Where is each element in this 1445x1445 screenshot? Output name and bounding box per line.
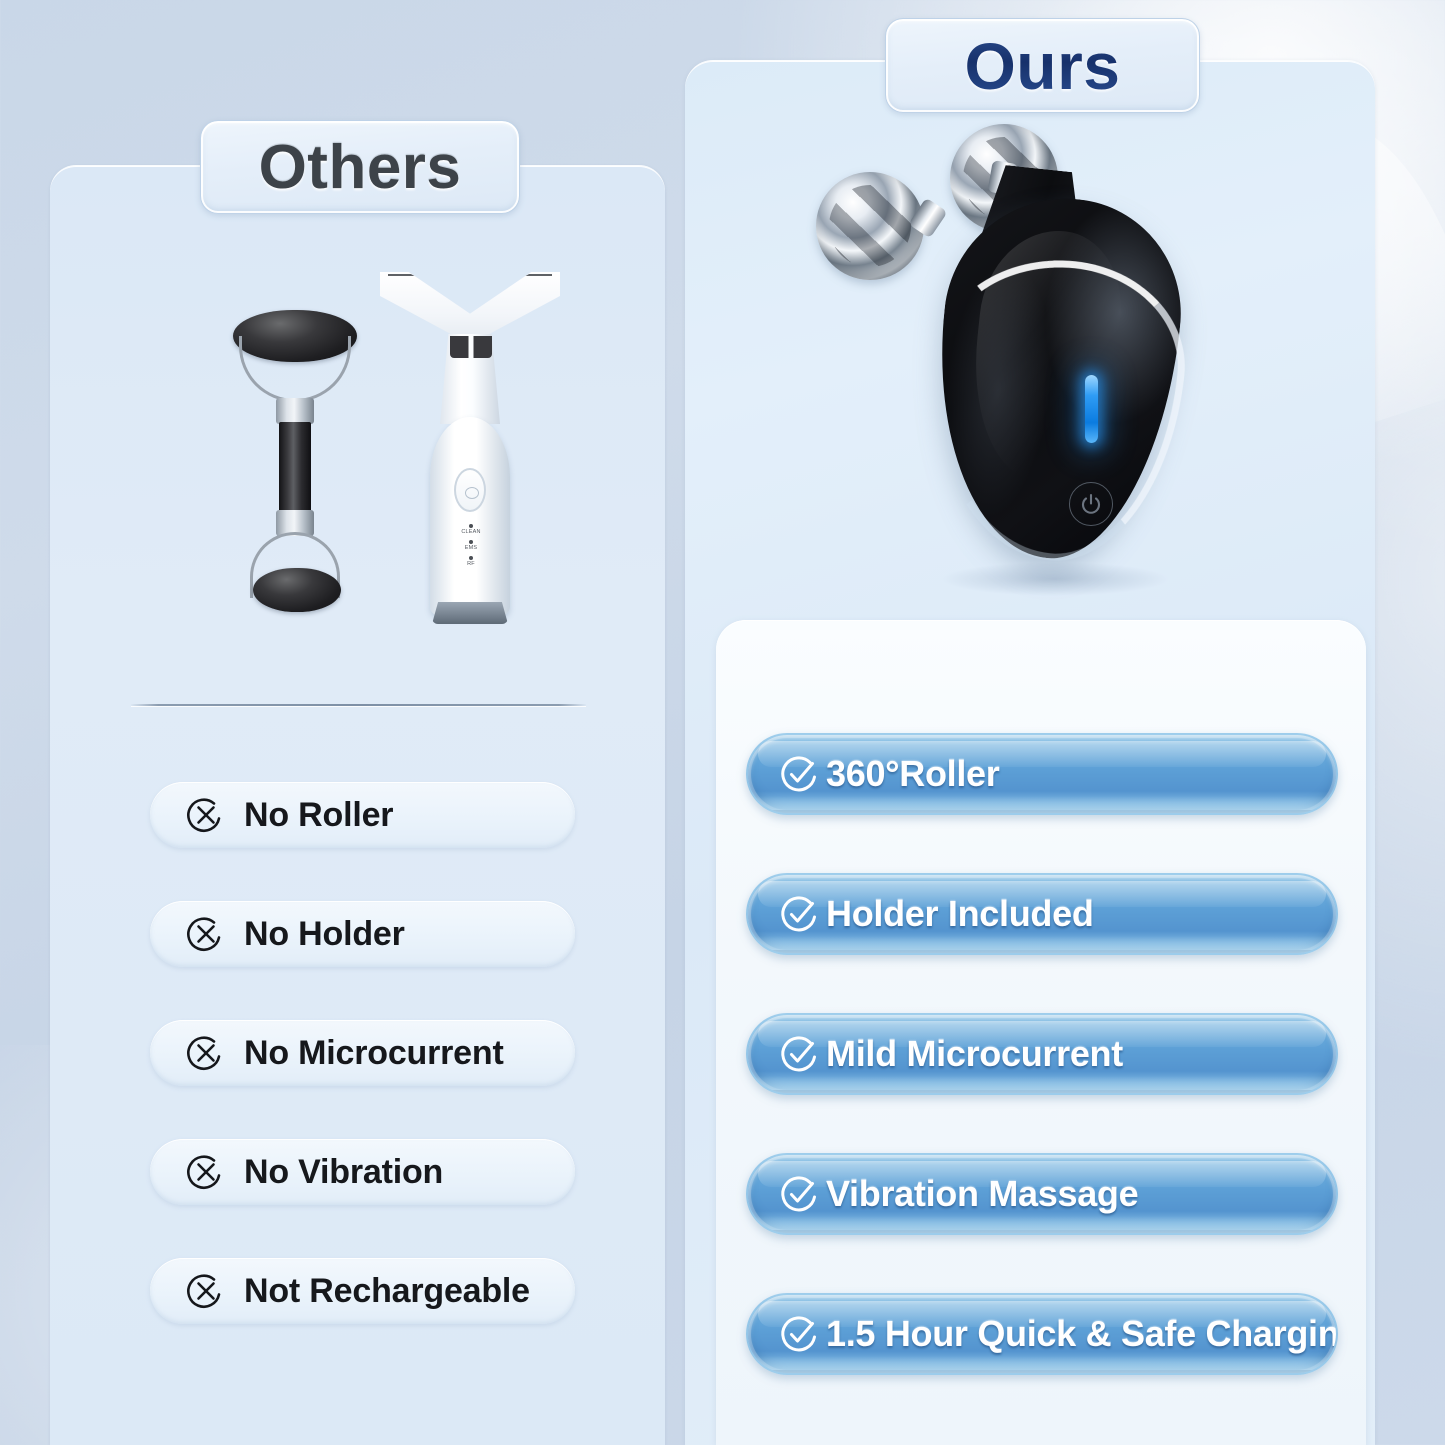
neck-device-indicator: CLEAN [452,524,490,535]
others-feature-item: No Holder [150,901,575,967]
circle-check-icon [778,1172,822,1216]
ours-feature-label: 1.5 Hour Quick & Safe Charging [826,1313,1338,1355]
indicator-label: CLEAN [461,529,480,535]
circle-x-icon [186,1152,226,1192]
power-button [1069,482,1113,526]
others-feature-label: No Roller [244,796,393,835]
circle-check-icon [778,1032,822,1076]
ours-feature-list: 360°Roller Holder Included Mild Microcur… [746,733,1338,1375]
circle-x-icon [186,1271,226,1311]
neck-device-electrodes [450,336,492,358]
ours-feature-item: 1.5 Hour Quick & Safe Charging [746,1293,1338,1375]
roller-ferrule-top [276,398,314,424]
neck-device-indicators: CLEAN EMS RF [452,524,490,572]
circle-check-icon [778,892,822,936]
ours-feature-label: 360°Roller [826,753,1000,795]
neck-device-indicator: RF [452,556,490,567]
indicator-label: EMS [465,545,478,551]
others-title-label: Others [259,132,462,203]
neck-device-power-button [454,468,486,512]
circle-check-icon [778,752,822,796]
indicator-dot [469,556,473,560]
indicator-dot [469,524,473,528]
ours-feature-label: Vibration Massage [826,1173,1138,1215]
neck-device-base [432,602,508,624]
circle-x-icon [186,914,226,954]
product-shadow [940,562,1170,596]
others-feature-item: Not Rechargeable [150,1258,575,1324]
indicator-label: RF [467,561,475,567]
ours-feature-item: Holder Included [746,873,1338,955]
roller-handle [279,422,311,514]
jade-face-roller-image [215,300,375,630]
others-feature-label: No Holder [244,915,405,954]
ours-title-badge: Ours [885,18,1200,113]
ours-feature-item: Mild Microcurrent [746,1013,1338,1095]
circle-check-icon [778,1312,822,1356]
roller-fork-top [239,336,351,402]
ours-feature-label: Mild Microcurrent [826,1033,1123,1075]
others-feature-label: No Vibration [244,1153,443,1192]
others-feature-list: No Roller No Holder No Microcurrent No V… [150,782,575,1324]
ours-feature-label: Holder Included [826,893,1094,935]
others-feature-item: No Vibration [150,1139,575,1205]
roller-head-bottom [253,568,341,612]
others-product-images: CLEAN EMS RF [50,250,665,680]
indicator-dot [469,540,473,544]
others-feature-item: No Microcurrent [150,1020,575,1086]
others-feature-label: Not Rechargeable [244,1272,530,1311]
ours-feature-item: 360°Roller [746,733,1338,815]
others-divider [131,704,586,706]
ours-title-label: Ours [964,28,1120,104]
others-title-badge: Others [200,120,520,214]
others-feature-item: No Roller [150,782,575,848]
power-icon [1078,491,1104,517]
others-feature-label: No Microcurrent [244,1034,504,1073]
neck-beauty-device-image: CLEAN EMS RF [380,272,560,652]
led-indicator [1085,375,1098,443]
neck-device-body [430,417,510,617]
circle-x-icon [186,1033,226,1073]
ours-feature-item: Vibration Massage [746,1153,1338,1235]
chrome-roller-ball-left [816,172,924,280]
circle-x-icon [186,795,226,835]
neck-device-indicator: EMS [452,540,490,551]
ours-product-image [790,110,1200,610]
